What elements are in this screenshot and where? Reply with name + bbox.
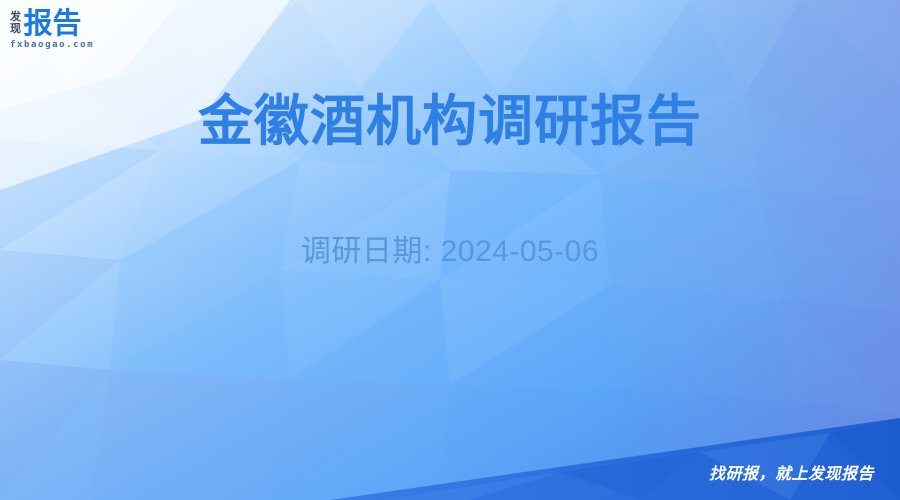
page-title: 金徽酒机构调研报告 xyxy=(0,88,900,154)
brand-logo-stack-bottom: 现 xyxy=(10,23,21,35)
survey-date-subtitle: 调研日期: 2024-05-06 xyxy=(0,232,900,272)
brand-logo[interactable]: 发 现 报告 xyxy=(10,8,82,38)
footer-slogan: 找研报，就上发现报告 xyxy=(709,464,874,484)
brand-wordmark: 报告 xyxy=(24,8,82,38)
report-cover-slide: 发 现 报告 fxbaogao.com 金徽酒机构调研报告 调研日期: 2024… xyxy=(0,0,900,500)
brand-url: fxbaogao.com xyxy=(10,40,94,50)
brand-logo-stack: 发 现 xyxy=(10,11,21,35)
